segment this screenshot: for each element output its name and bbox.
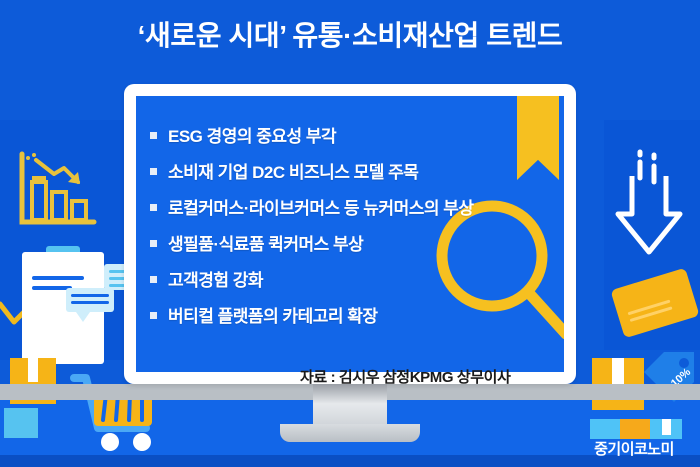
package-tape xyxy=(612,358,624,386)
watermark-label: 중기이코노미 xyxy=(578,438,690,459)
list-item: 로컬커머스·라이브커머스 등 뉴커머스의 부상 xyxy=(150,194,554,219)
download-arrow-icon xyxy=(610,148,688,260)
list-item-label: 버티컬 플랫폼의 카테고리 확장 xyxy=(168,302,378,327)
list-item-label: ESG 경영의 중요성 부각 xyxy=(168,122,336,147)
package-tape xyxy=(28,358,38,382)
bubble-line xyxy=(71,294,109,297)
monitor-stand-foot xyxy=(280,424,420,442)
bullet-marker-icon xyxy=(150,240,157,247)
bubble-line xyxy=(71,301,109,304)
bullet-list: ESG 경영의 중요성 부각 소비재 기업 D2C 비즈니스 모델 주목 로컬커… xyxy=(150,122,554,338)
logo-notch xyxy=(662,419,671,435)
package-box-cyan xyxy=(4,408,38,438)
document-line xyxy=(32,276,84,280)
page-title: ‘새로운 시대’ 유통·소비재산업 트렌드 xyxy=(0,14,700,54)
list-item: 고객경험 강화 xyxy=(150,266,554,291)
list-item-label: 소비재 기업 D2C 비즈니스 모델 주목 xyxy=(168,158,418,183)
bullet-marker-icon xyxy=(150,276,157,283)
list-item: 버티컬 플랫폼의 카테고리 확장 xyxy=(150,302,554,327)
list-item: 생필품·식료품 퀵커머스 부상 xyxy=(150,230,554,255)
bullet-marker-icon xyxy=(150,312,157,319)
logo-bar xyxy=(650,419,682,439)
infographic-slide: ‘새로운 시대’ 유통·소비재산업 트렌드 xyxy=(0,0,700,467)
bullet-marker-icon xyxy=(150,132,157,139)
source-attribution: 자료 : 김시우 삼정KPMG 상무이사 xyxy=(300,366,510,387)
list-item-label: 고객경험 강화 xyxy=(168,266,263,291)
speech-bubble-primary xyxy=(66,288,114,312)
bullet-marker-icon xyxy=(150,168,157,175)
list-item-label: 로컬커머스·라이브커머스 등 뉴커머스의 부상 xyxy=(168,194,474,219)
monitor-screen: ESG 경영의 중요성 부각 소비재 기업 D2C 비즈니스 모델 주목 로컬커… xyxy=(136,96,564,372)
logo-bar xyxy=(590,419,620,439)
list-item-label: 생필품·식료품 퀵커머스 부상 xyxy=(168,230,363,255)
list-item: 소비재 기업 D2C 비즈니스 모델 주목 xyxy=(150,158,554,183)
monitor-stand-neck xyxy=(313,384,387,428)
declining-bar-chart-icon xyxy=(14,148,100,234)
logo-bar xyxy=(620,419,650,439)
logo-bars-icon xyxy=(590,419,682,439)
bullet-marker-icon xyxy=(150,204,157,211)
list-item: ESG 경영의 중요성 부각 xyxy=(150,122,554,147)
watermark-logo: 중기이코노미 xyxy=(578,419,690,459)
